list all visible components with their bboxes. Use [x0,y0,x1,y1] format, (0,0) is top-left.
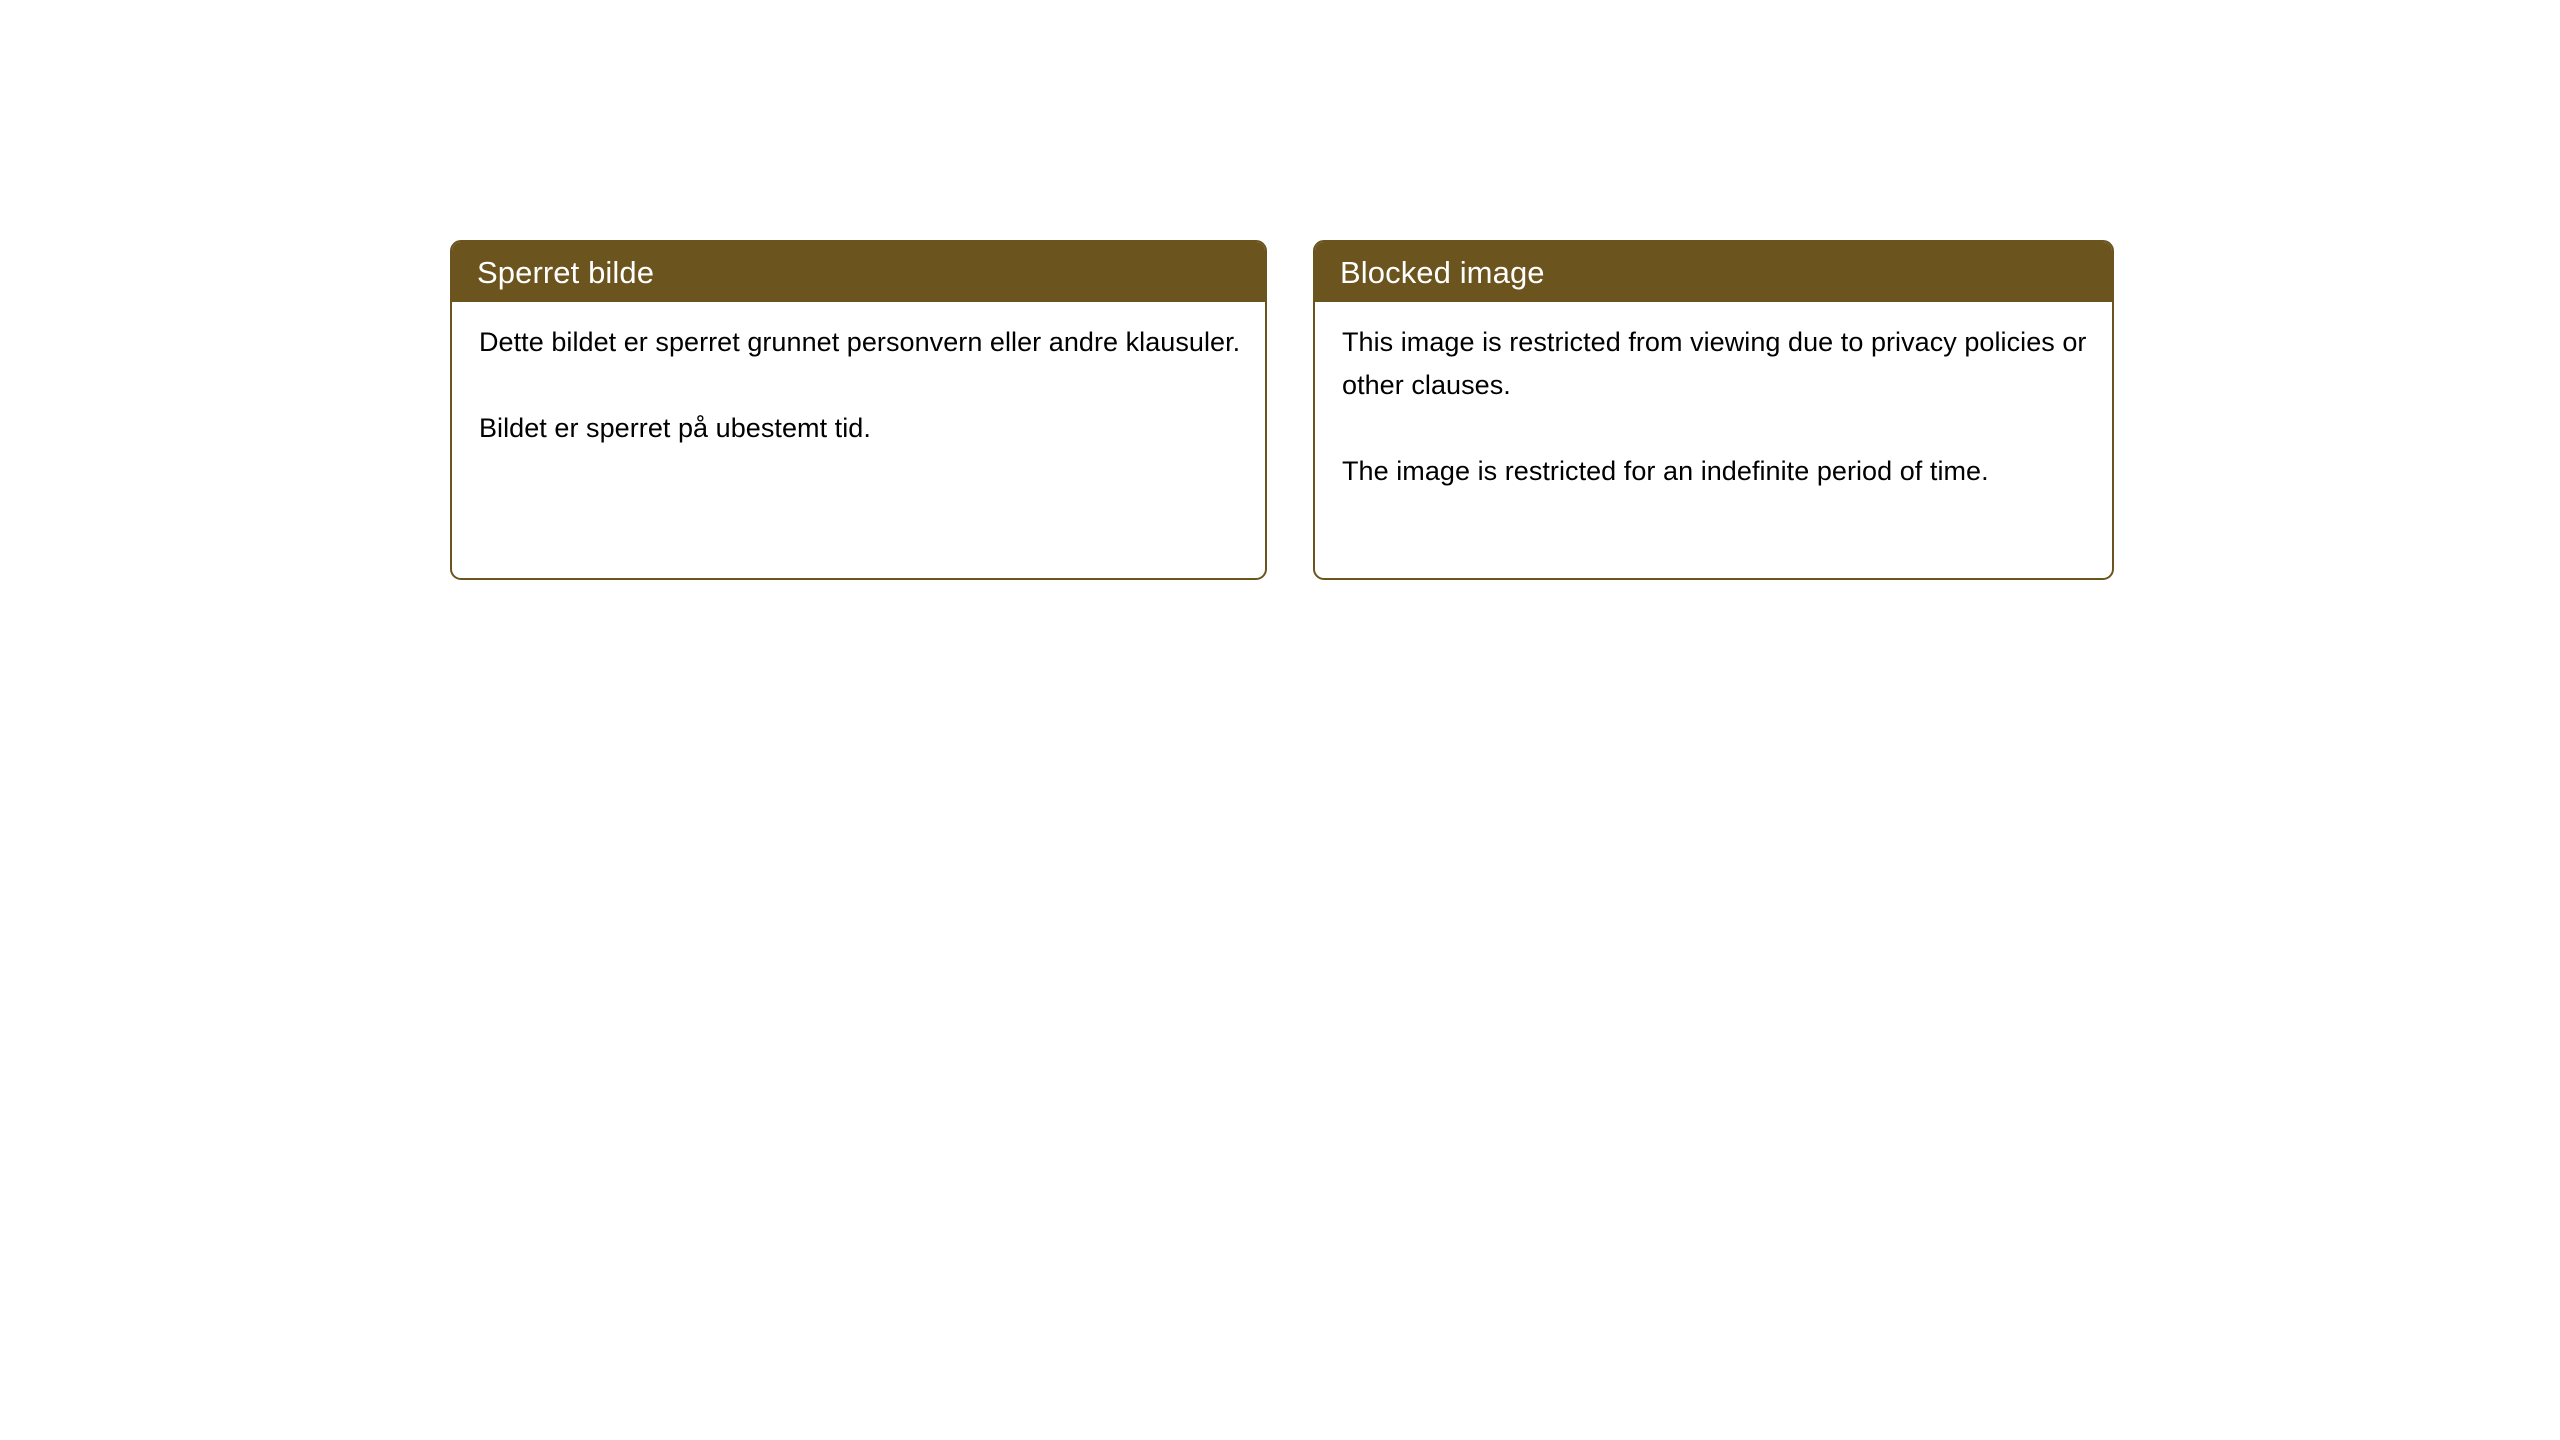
blocked-image-notice-card-norwegian: Sperret bilde Dette bildet er sperret gr… [450,240,1267,580]
card-header-english: Blocked image [1315,242,2112,302]
notice-paragraph-primary-norwegian: Dette bildet er sperret grunnet personve… [479,321,1249,364]
card-header-norwegian: Sperret bilde [452,242,1265,302]
notice-paragraph-primary-english: This image is restricted from viewing du… [1342,321,2096,407]
card-title-norwegian: Sperret bilde [477,257,654,288]
card-title-english: Blocked image [1340,257,1545,288]
blocked-image-notice-card-english: Blocked image This image is restricted f… [1313,240,2114,580]
page-canvas: Sperret bilde Dette bildet er sperret gr… [0,0,2560,1440]
notice-paragraph-secondary-norwegian: Bildet er sperret på ubestemt tid. [479,407,1249,450]
card-body-norwegian: Dette bildet er sperret grunnet personve… [452,302,1265,450]
notice-paragraph-secondary-english: The image is restricted for an indefinit… [1342,450,2096,493]
card-body-english: This image is restricted from viewing du… [1315,302,2112,493]
